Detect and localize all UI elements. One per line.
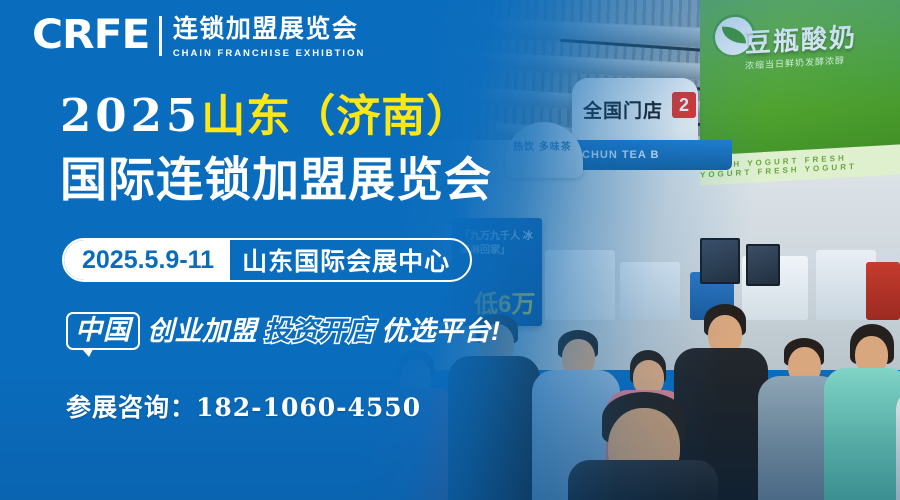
promo-banner: 豆瓶酸奶 浓缩当日鲜奶发酵浓醇 FRESH YOGURT FRESH YOGUR… (0, 0, 900, 500)
logo-name-cn: 连锁加盟展览会 (173, 15, 366, 43)
tagline: 中国 创业加盟 投资开店 优选平台! (66, 312, 501, 350)
banner-content: CRFE 连锁加盟展览会 CHAIN FRANCHISE EXHIBTION 2… (0, 0, 900, 500)
logo-divider (159, 16, 162, 56)
contact-line: 参展咨询：182-1060-4550 (66, 388, 421, 424)
event-date: 2025.5.9-11 (64, 240, 230, 280)
tagline-highlight: 投资开店 (264, 316, 374, 346)
crfe-logo: CRFE 连锁加盟展览会 CHAIN FRANCHISE EXHIBTION (32, 14, 365, 61)
tagline-part1: 创业加盟 (147, 316, 257, 346)
headline-line-1: 2025山东（济南） (60, 88, 471, 145)
logo-wordmark: CRFE (32, 14, 149, 56)
date-venue-pill: 2025.5.9-11 山东国际会展中心 (62, 238, 472, 282)
tagline-part2: 优选平台! (381, 316, 501, 346)
logo-name-en: CHAIN FRANCHISE EXHIBTION (173, 47, 366, 59)
event-venue: 山东国际会展中心 (230, 240, 470, 280)
tagline-country: 中国 (66, 312, 140, 350)
logo-text-group: 连锁加盟展览会 CHAIN FRANCHISE EXHIBTION (173, 14, 366, 61)
headline-location: 山东（济南） (201, 91, 471, 142)
headline-line-2: 国际连锁加盟展览会 (60, 152, 492, 210)
headline-year: 2025 (60, 89, 201, 142)
